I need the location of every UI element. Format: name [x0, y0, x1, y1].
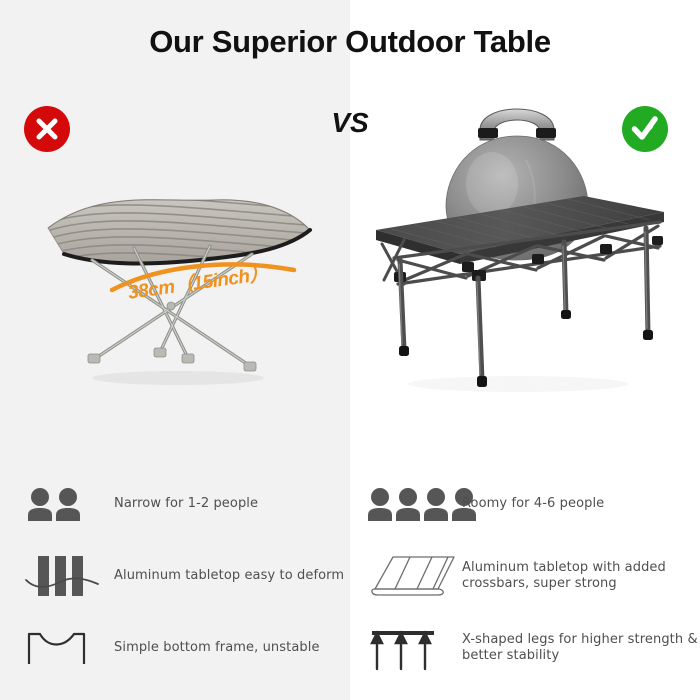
feature-row: Simple bottom frame, unstable	[0, 612, 350, 684]
feature-label: Simple bottom frame, unstable	[108, 640, 320, 656]
feature-label: Aluminum tabletop with added crossbars, …	[458, 560, 700, 592]
two-people-icon	[26, 480, 108, 528]
feature-label: Roomy for 4-6 people	[458, 496, 604, 512]
reinforced-tabletop-icon	[368, 552, 458, 600]
versus-label: VS	[322, 107, 378, 139]
feature-row: X-shaped legs for higher strength & bett…	[350, 612, 700, 684]
feature-label: Aluminum tabletop easy to deform	[108, 568, 344, 584]
green-check-circle-icon	[622, 106, 668, 152]
feature-row: Aluminum tabletop with added crossbars, …	[350, 540, 700, 612]
feature-row: Narrow for 1-2 people	[0, 468, 350, 540]
right-feature-list: Roomy for 4-6 people Aluminum tabletop w…	[350, 468, 700, 684]
feature-row: Aluminum tabletop easy to deform	[0, 540, 350, 612]
deforming-tabletop-icon	[26, 552, 108, 600]
red-cross-circle-icon	[24, 106, 70, 152]
unstable-frame-icon	[26, 624, 108, 672]
comparison-infographic: Our Superior Outdoor Table VS	[0, 0, 700, 700]
upward-arrows-strength-icon	[368, 624, 458, 672]
four-people-icon	[368, 480, 458, 528]
feature-label: Narrow for 1-2 people	[108, 496, 258, 512]
feature-row: Roomy for 4-6 people	[350, 468, 700, 540]
left-feature-list: Narrow for 1-2 people Aluminum tabletop …	[0, 468, 350, 684]
page-title: Our Superior Outdoor Table	[0, 24, 700, 60]
feature-label: X-shaped legs for higher strength & bett…	[458, 632, 700, 664]
